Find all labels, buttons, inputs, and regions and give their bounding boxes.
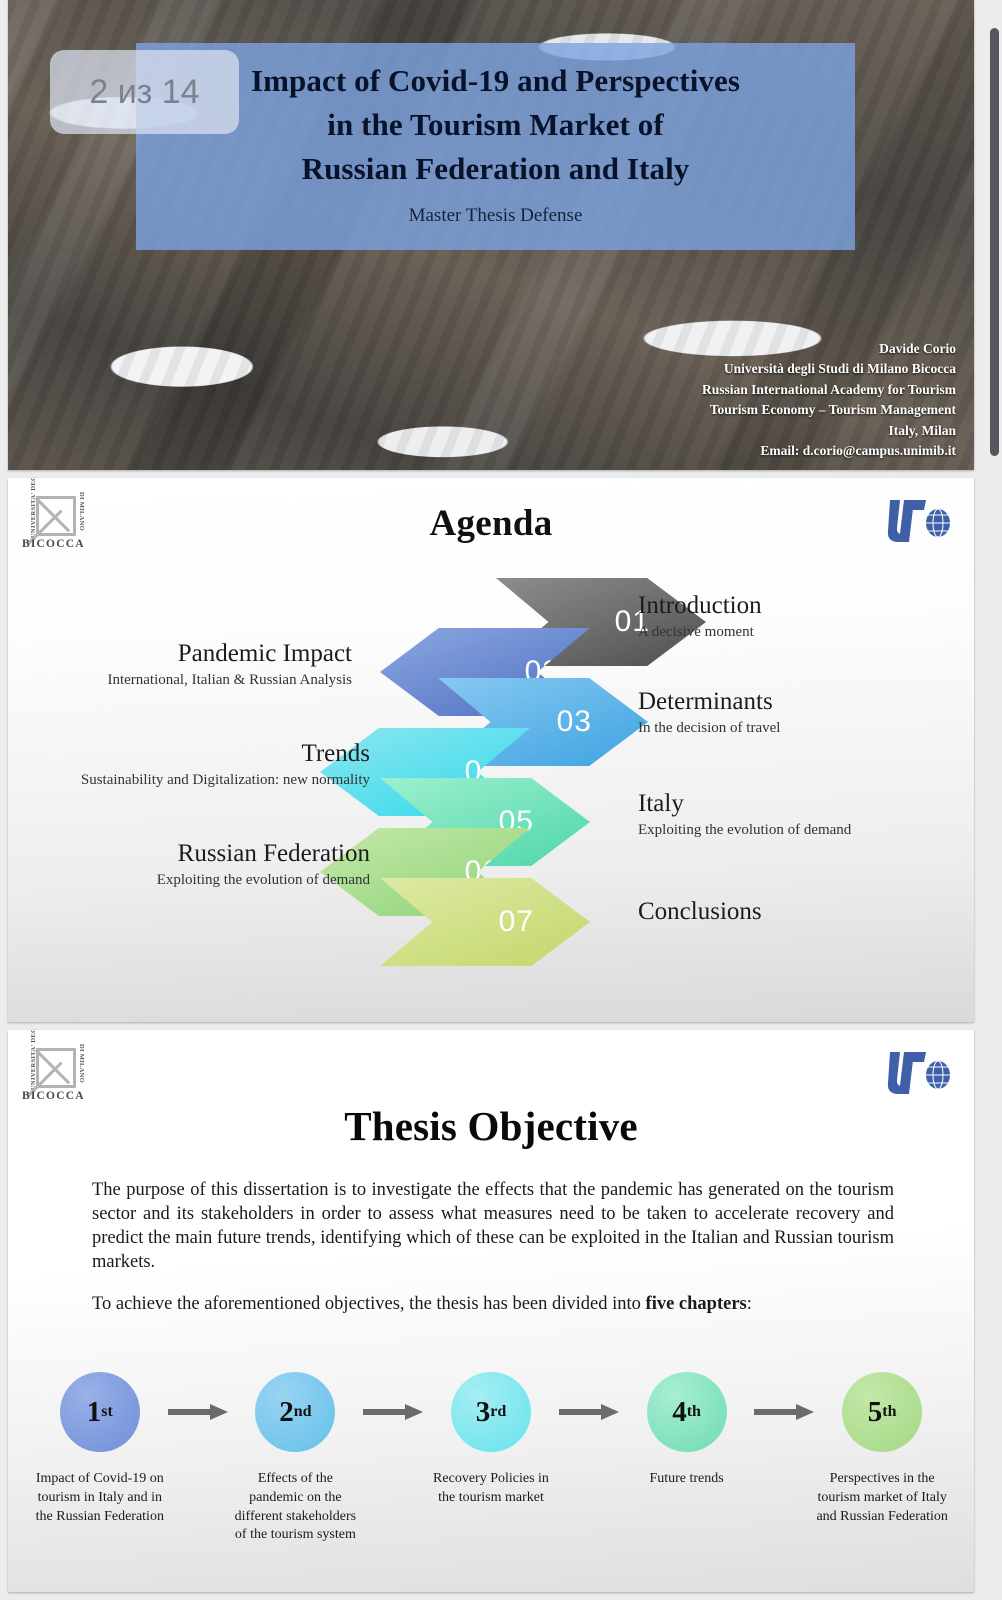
agenda-label-heading-01: Introduction bbox=[638, 592, 762, 621]
agenda-label-heading-07: Conclusions bbox=[638, 898, 762, 927]
chapter-step-3[interactable]: 3rd Recovery Policies in the tourism mar… bbox=[425, 1372, 557, 1508]
chapter-step-1[interactable]: 1st Impact of Covid-19 on tourism in Ita… bbox=[34, 1372, 166, 1526]
author-location: Italy, Milan bbox=[702, 421, 956, 442]
title-panel: Impact of Covid-19 and Perspectives in t… bbox=[136, 43, 855, 250]
agenda-label-sub-03: In the decision of travel bbox=[638, 720, 780, 737]
chapter-ordinal-3: 3 bbox=[476, 1396, 491, 1429]
agenda-label-03: Determinants In the decision of travel bbox=[638, 688, 780, 737]
step-arrow-3 bbox=[557, 1372, 621, 1452]
bicocca-logo-mark bbox=[36, 1048, 76, 1088]
rmat-logo bbox=[884, 1046, 952, 1094]
chapter-caption-3: Recovery Policies in the tourism market bbox=[425, 1470, 557, 1508]
chapter-caption-4: Future trends bbox=[649, 1470, 723, 1489]
author-university: Università degli Studi di Milano Bicocca bbox=[702, 359, 956, 380]
agenda-label-heading-06: Russian Federation bbox=[10, 840, 370, 869]
agenda-label-sub-06: Exploiting the evolution of demand bbox=[10, 872, 370, 889]
chapter-ordinal-4: 4 bbox=[672, 1396, 687, 1429]
author-email: Email: d.corio@campus.unimib.it bbox=[702, 441, 956, 462]
agenda-label-heading-03: Determinants bbox=[638, 688, 780, 717]
chapter-ordinal-5: 5 bbox=[868, 1396, 883, 1429]
chapter-caption-1: Impact of Covid-19 on tourism in Italy a… bbox=[34, 1470, 166, 1526]
chapter-circle-2: 2nd bbox=[255, 1372, 335, 1452]
step-arrow-2 bbox=[361, 1372, 425, 1452]
chapter-step-4[interactable]: 4th Future trends bbox=[621, 1372, 753, 1489]
chapter-caption-5: Perspectives in the tourism market of It… bbox=[816, 1470, 948, 1526]
author-program: Tourism Economy – Tourism Management bbox=[702, 400, 956, 421]
agenda-label-07: Conclusions bbox=[638, 898, 762, 930]
step-arrow-4 bbox=[752, 1372, 816, 1452]
agenda-label-sub-05: Exploiting the evolution of demand bbox=[638, 822, 851, 839]
presentation-subtitle: Master Thesis Defense bbox=[409, 205, 583, 227]
page-indicator: 2 из 14 bbox=[50, 50, 239, 134]
chapter-ordinal-suffix-2: nd bbox=[294, 1403, 312, 1421]
author-affiliation-block: Davide Corio Università degli Studi di M… bbox=[702, 339, 956, 462]
chapter-ordinal-suffix-4: th bbox=[687, 1403, 701, 1421]
chapter-step-5[interactable]: 5th Perspectives in the tourism market o… bbox=[816, 1372, 948, 1526]
globe-icon bbox=[926, 1061, 950, 1089]
step-arrow-1 bbox=[166, 1372, 230, 1452]
vertical-scrollbar[interactable] bbox=[990, 28, 999, 456]
chapter-ordinal-1: 1 bbox=[87, 1396, 102, 1429]
chapter-caption-2: Effects of the pandemic on the different… bbox=[230, 1470, 362, 1545]
agenda-label-02: Pandemic Impact International, Italian &… bbox=[22, 640, 352, 689]
chapter-circle-3: 3rd bbox=[451, 1372, 531, 1452]
objective-paragraph-1: The purpose of this dissertation is to i… bbox=[92, 1178, 894, 1274]
agenda-title: Agenda bbox=[8, 502, 974, 545]
objective-title: Thesis Objective bbox=[8, 1102, 974, 1150]
agenda-label-01: Introduction A decisive moment bbox=[638, 592, 762, 641]
chapter-step-2[interactable]: 2nd Effects of the pandemic on the diffe… bbox=[230, 1372, 362, 1545]
thesis-objective-slide[interactable]: UNIVERSITA' DEGLI STUDI DI MILANO BICOCC… bbox=[8, 1030, 974, 1592]
presentation-title: Impact of Covid-19 and Perspectives in t… bbox=[251, 59, 740, 191]
agenda-label-heading-04: Trends bbox=[10, 740, 370, 769]
agenda-label-sub-01: A decisive moment bbox=[638, 624, 762, 641]
agenda-label-04: Trends Sustainability and Digitalization… bbox=[10, 740, 370, 789]
agenda-label-05: Italy Exploiting the evolution of demand bbox=[638, 790, 851, 839]
objective-paragraph-2-pre: To achieve the aforementioned objectives… bbox=[92, 1294, 646, 1314]
chapter-circle-5: 5th bbox=[842, 1372, 922, 1452]
bicocca-logo: UNIVERSITA' DEGLI STUDI DI MILANO BICOCC… bbox=[22, 1042, 86, 1108]
agenda-label-heading-02: Pandemic Impact bbox=[22, 640, 352, 669]
author-name: Davide Corio bbox=[702, 339, 956, 360]
chapter-ordinal-suffix-1: st bbox=[101, 1403, 113, 1421]
chapter-circle-1: 1st bbox=[60, 1372, 140, 1452]
agenda-chevron-diagram: 01 02 03 04 05 06 07 bbox=[8, 578, 974, 1008]
author-academy: Russian International Academy for Touris… bbox=[702, 380, 956, 401]
agenda-chevron-number-03: 03 bbox=[557, 705, 592, 739]
objective-paragraph-2-bold: five chapters bbox=[646, 1294, 747, 1314]
bicocca-logo-right-text: DI MILANO bbox=[78, 1044, 85, 1090]
title-line-1: Impact of Covid-19 and Perspectives bbox=[251, 59, 740, 103]
chapter-ordinal-suffix-3: rd bbox=[490, 1403, 506, 1421]
agenda-chevron-07[interactable]: 07 bbox=[380, 878, 590, 966]
objective-paragraph-2: To achieve the aforementioned objectives… bbox=[92, 1292, 894, 1316]
objective-paragraph-2-post: : bbox=[747, 1294, 752, 1314]
title-line-3: Russian Federation and Italy bbox=[251, 147, 740, 191]
slide-viewer[interactable]: Impact of Covid-19 and Perspectives in t… bbox=[0, 0, 1002, 1600]
agenda-slide[interactable]: UNIVERSITA' DEGLI STUDI DI MILANO BICOCC… bbox=[8, 478, 974, 1022]
agenda-chevron-number-07: 07 bbox=[499, 905, 534, 939]
chapter-circle-4: 4th bbox=[647, 1372, 727, 1452]
agenda-label-heading-05: Italy bbox=[638, 790, 851, 819]
agenda-label-06: Russian Federation Exploiting the evolut… bbox=[10, 840, 370, 889]
agenda-label-sub-04: Sustainability and Digitalization: new n… bbox=[10, 772, 370, 789]
bicocca-wordmark: BICOCCA bbox=[22, 1090, 86, 1102]
chapter-ordinal-suffix-5: th bbox=[882, 1403, 896, 1421]
objective-body: The purpose of this dissertation is to i… bbox=[92, 1178, 894, 1316]
title-line-2: in the Tourism Market of bbox=[251, 103, 740, 147]
chapter-ordinal-2: 2 bbox=[279, 1396, 294, 1429]
agenda-label-sub-02: International, Italian & Russian Analysi… bbox=[22, 672, 352, 689]
chapter-step-diagram: 1st Impact of Covid-19 on tourism in Ita… bbox=[34, 1372, 948, 1545]
